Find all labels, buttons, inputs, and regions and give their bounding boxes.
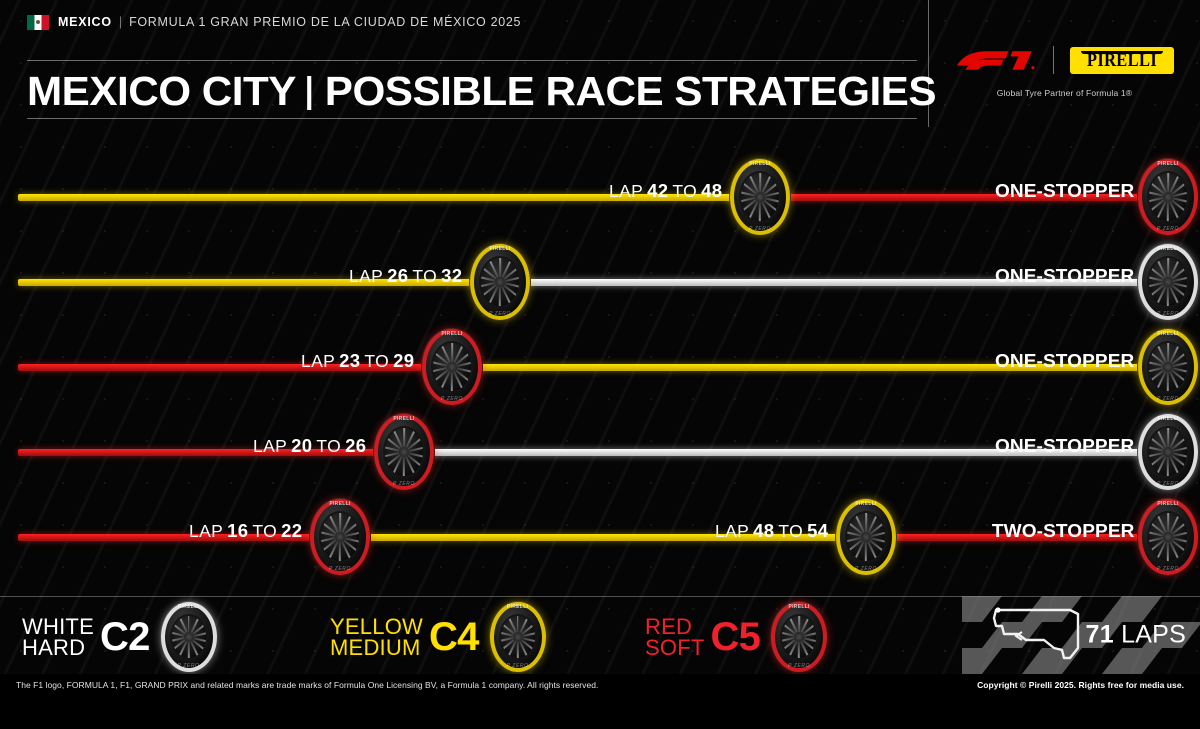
tyre-hub: [1163, 192, 1173, 202]
pitstop-lap-label: LAP26TO32: [349, 263, 466, 289]
tyre-rim: [739, 171, 781, 223]
mexico-flag-icon: [27, 15, 49, 30]
lap-mid: TO: [316, 436, 341, 457]
legend-item-red: REDSOFTC5PIRELLIP ZERO: [645, 607, 828, 667]
footer: The F1 logo, FORMULA 1, F1, GRAND PRIX a…: [0, 674, 1200, 729]
lap-to: 26: [345, 435, 366, 457]
tyre-brand-top: PIRELLI: [1157, 246, 1178, 252]
race-laps-block: 71 LAPS: [962, 596, 1200, 674]
legend-tyre-red: PIRELLIP ZERO: [770, 601, 828, 673]
lap-mid: TO: [412, 266, 437, 287]
breadcrumb-separator: |: [119, 15, 122, 29]
legend-item-yellow: YELLOWMEDIUMC4PIRELLIP ZERO: [330, 607, 547, 667]
logo-row: PIRELLI: [929, 40, 1200, 80]
f1-logo-icon: [955, 48, 1037, 73]
tyre-brand-top: PIRELLI: [749, 161, 770, 167]
page-title-part2: POSSIBLE RACE STRATEGIES: [325, 71, 936, 112]
strategy-label: ONE-STOPPER: [995, 178, 1134, 204]
strategy-label: ONE-STOPPER: [995, 433, 1134, 459]
breadcrumb: MEXICO | FORMULA 1 GRAN PREMIO DE LA CIU…: [27, 0, 927, 32]
lap-from: 48: [753, 520, 774, 542]
strategy-row: PIRELLIP ZEROLAP23TO29PIRELLIP ZEROONE-S…: [0, 310, 1200, 395]
lap-to: 54: [807, 520, 828, 542]
tyre-brand-top: PIRELLI: [393, 416, 414, 422]
pitstop-tyre-yellow: PIRELLIP ZERO: [835, 498, 897, 576]
tyre-brand-bottom: P ZERO: [507, 663, 529, 669]
legend-tyre-wrap: PIRELLIP ZERO: [489, 601, 547, 673]
tyre-hub: [495, 277, 505, 287]
pitstop-lap-label: LAP16TO22: [189, 518, 306, 544]
event-name: FORMULA 1 GRAN PREMIO DE LA CIUDAD DE MÉ…: [129, 15, 521, 29]
legend-tyre-white: PIRELLIP ZERO: [160, 601, 218, 673]
tyre-brand-bottom: P ZERO: [788, 663, 810, 669]
infographic-stage: MEXICO | FORMULA 1 GRAN PREMIO DE LA CIU…: [0, 0, 1200, 729]
lap-from: 20: [291, 435, 312, 457]
lap-prefix: LAP: [609, 181, 643, 202]
tyre-brand-top: PIRELLI: [1157, 416, 1178, 422]
tyre-brand-top: PIRELLI: [507, 604, 528, 610]
tyre-brand-bottom: P ZERO: [329, 566, 351, 572]
strategy-label: TWO-STOPPER: [992, 518, 1135, 544]
legend-compound-code: C5: [711, 619, 761, 655]
tyre-brand-top: PIRELLI: [178, 604, 199, 610]
pitstop-lap-label: LAP48TO54: [715, 518, 832, 544]
lap-from: 23: [339, 350, 360, 372]
tyre-rim: [383, 426, 425, 478]
title-rule-top: [27, 60, 917, 61]
tyre-hub: [513, 632, 523, 642]
lap-prefix: LAP: [253, 436, 287, 457]
header: MEXICO | FORMULA 1 GRAN PREMIO DE LA CIU…: [0, 0, 1200, 127]
lap-to: 22: [281, 520, 302, 542]
laps-word: LAPS: [1121, 621, 1186, 649]
lap-prefix: LAP: [715, 521, 749, 542]
tyre-brand-top: PIRELLI: [329, 501, 350, 507]
legend-words: REDSOFT: [645, 616, 705, 658]
lap-to: 48: [701, 180, 722, 202]
tyre-rim: [319, 511, 361, 563]
strategy-label: ONE-STOPPER: [995, 348, 1134, 374]
tyre-brand-top: PIRELLI: [489, 246, 510, 252]
tyre-hub: [1163, 277, 1173, 287]
title-rule-bottom: [27, 118, 917, 119]
final-tyre-red: PIRELLIP ZERO: [1137, 498, 1199, 576]
legend-compound-code: C4: [429, 619, 479, 655]
strategy-chart: PIRELLIP ZEROLAP42TO48PIRELLIP ZEROONE-S…: [0, 140, 1200, 595]
lap-mid: TO: [364, 351, 389, 372]
tyre-brand-top: PIRELLI: [855, 501, 876, 507]
legend-tyre-wrap: PIRELLIP ZERO: [770, 601, 828, 673]
lap-prefix: LAP: [301, 351, 335, 372]
page-title-part1: MEXICO CITY: [27, 71, 296, 112]
tyre-rim: [479, 256, 521, 308]
title-divider: [307, 76, 311, 110]
legend-words: YELLOWMEDIUM: [330, 616, 423, 658]
lap-mid: TO: [672, 181, 697, 202]
legend-color-word: RED: [645, 616, 705, 637]
legend-tyre-yellow: PIRELLIP ZERO: [489, 601, 547, 673]
tyre-hub: [1163, 362, 1173, 372]
pitstop-lap-label: LAP42TO48: [609, 178, 726, 204]
tyre-hub: [861, 532, 871, 542]
lap-prefix: LAP: [349, 266, 383, 287]
tyre-brand-bottom: P ZERO: [1157, 566, 1179, 572]
pirelli-logo-text: PIRELLI: [1087, 48, 1157, 72]
tyre-hub: [755, 192, 765, 202]
strategy-row: PIRELLIP ZEROLAP42TO48PIRELLIP ZEROONE-S…: [0, 140, 1200, 225]
lap-mid: TO: [252, 521, 277, 542]
lap-from: 42: [647, 180, 668, 202]
legend-words: WHITEHARD: [22, 616, 94, 658]
track-map-icon: [974, 600, 1094, 670]
tyre-rim: [1147, 256, 1189, 308]
legend-compound-word: HARD: [22, 637, 94, 658]
lap-mid: TO: [778, 521, 803, 542]
tyre-hub: [1163, 447, 1173, 457]
tyre-rim: [1147, 341, 1189, 393]
footer-copyright-text: Copyright © Pirelli 2025. Rights free fo…: [977, 680, 1184, 690]
tyre-brand-bottom: P ZERO: [178, 663, 200, 669]
tyre-rim: [170, 614, 208, 660]
pitstop-lap-label: LAP20TO26: [253, 433, 370, 459]
legend-compound-word: SOFT: [645, 637, 705, 658]
page-title: MEXICO CITY POSSIBLE RACE STRATEGIES: [27, 66, 936, 116]
legend-tyre-wrap: PIRELLIP ZERO: [160, 601, 218, 673]
legend-color-word: WHITE: [22, 616, 94, 637]
footer-trademark-text: The F1 logo, FORMULA 1, F1, GRAND PRIX a…: [16, 680, 598, 690]
lap-prefix: LAP: [189, 521, 223, 542]
lap-to: 32: [441, 265, 462, 287]
tyre-rim: [1147, 171, 1189, 223]
lap-from: 26: [387, 265, 408, 287]
tyre-rim: [499, 614, 537, 660]
tyre-rim: [1147, 511, 1189, 563]
header-left: MEXICO | FORMULA 1 GRAN PREMIO DE LA CIU…: [27, 0, 927, 32]
laps-number: 71: [1086, 621, 1114, 649]
pitstop-lap-label: LAP23TO29: [301, 348, 418, 374]
strategy-label: ONE-STOPPER: [995, 263, 1134, 289]
tyre-brand-top: PIRELLI: [1157, 501, 1178, 507]
tyre-rim: [780, 614, 818, 660]
legend-item-white: WHITEHARDC2PIRELLIP ZERO: [22, 607, 218, 667]
tyre-hub: [335, 532, 345, 542]
tyre-rim: [845, 511, 887, 563]
lap-from: 16: [227, 520, 248, 542]
tyre-hub: [184, 632, 194, 642]
legend-compound-word: MEDIUM: [330, 637, 423, 658]
strategy-row: PIRELLIP ZEROLAP26TO32PIRELLIP ZEROONE-S…: [0, 225, 1200, 310]
header-logos: PIRELLI Global Tyre Partner of Formula 1…: [928, 0, 1200, 127]
lap-to: 29: [393, 350, 414, 372]
tyre-brand-top: PIRELLI: [1157, 331, 1178, 337]
partner-text: Global Tyre Partner of Formula 1®: [929, 88, 1200, 98]
tyre-hub: [1163, 532, 1173, 542]
strategy-row: PIRELLIP ZEROLAP16TO22PIRELLIP ZEROLAP48…: [0, 480, 1200, 565]
tyre-brand-top: PIRELLI: [1157, 161, 1178, 167]
pitstop-tyre-red: PIRELLIP ZERO: [309, 498, 371, 576]
tyre-hub: [399, 447, 409, 457]
strategy-row: PIRELLIP ZEROLAP20TO26PIRELLIP ZEROONE-S…: [0, 395, 1200, 480]
tyre-brand-top: PIRELLI: [441, 331, 462, 337]
tyre-brand-top: PIRELLI: [788, 604, 809, 610]
tyre-rim: [1147, 426, 1189, 478]
logo-divider: [1053, 46, 1054, 74]
legend-color-word: YELLOW: [330, 616, 423, 637]
tyre-hub: [447, 362, 457, 372]
country-label: MEXICO: [58, 15, 112, 29]
tyre-rim: [431, 341, 473, 393]
pirelli-logo: PIRELLI: [1070, 47, 1174, 74]
legend-compound-code: C2: [100, 619, 150, 655]
laps-count: 71 LAPS: [1086, 621, 1186, 650]
tyre-brand-bottom: P ZERO: [855, 566, 877, 572]
